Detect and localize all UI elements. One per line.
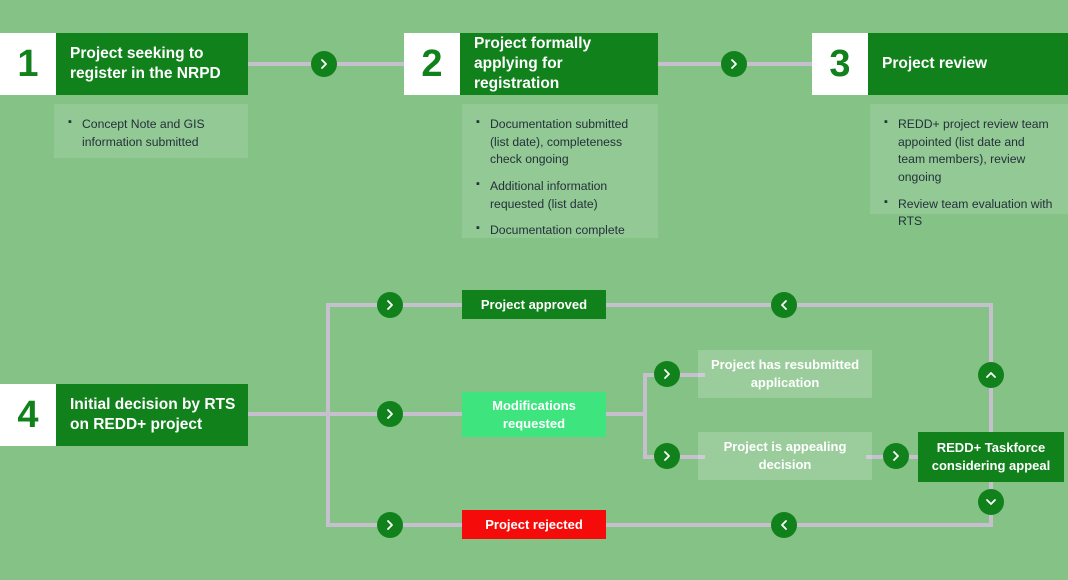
chevron-left-icon-rejected-return	[771, 512, 797, 538]
chevron-up-icon-taskforce-to-approved	[978, 362, 1004, 388]
chevron-right-icon-branch-modifications	[377, 401, 403, 427]
stage-2-detail-item: Documentation submitted (list date), com…	[488, 116, 644, 169]
outcome-box-modifications[interactable]: Modifications requested	[462, 392, 606, 437]
stage-4-number: 4	[0, 384, 56, 446]
chevron-right-icon-appealing	[654, 443, 680, 469]
connector-line-rejected-to-right	[605, 523, 993, 527]
stage-3-number: 3	[812, 33, 868, 95]
stage-3-title: Project review	[868, 33, 999, 95]
flowchart-canvas: 1 Project seeking to register in the NRP…	[0, 0, 1068, 580]
stage-1-detail-item: Concept Note and GIS information submitt…	[80, 116, 234, 151]
stage-1-header: 1 Project seeking to register in the NRP…	[0, 33, 248, 95]
outcome-box-taskforce[interactable]: REDD+ Taskforce considering appeal	[918, 432, 1064, 482]
stage-2-number: 2	[404, 33, 460, 95]
chevron-right-icon-branch-approved	[377, 292, 403, 318]
stage-4-title: Initial decision by RTS on REDD+ project	[56, 384, 248, 446]
chevron-down-icon-taskforce-to-rejected	[978, 489, 1004, 515]
connector-line-modifications-out	[605, 412, 645, 416]
stage-1-details: Concept Note and GIS information submitt…	[54, 104, 248, 158]
outcome-box-appealing[interactable]: Project is appealing decision	[698, 432, 872, 480]
connector-line-stage4-trunk	[248, 412, 328, 416]
stage-2-detail-item: Documentation complete	[488, 222, 644, 240]
stage-3-detail-item: Review team evaluation with RTS	[896, 196, 1054, 231]
stage-2-title: Project formally applying for registrati…	[460, 33, 658, 95]
outcome-box-rejected[interactable]: Project rejected	[462, 510, 606, 539]
connector-line-modifications-split	[643, 373, 647, 456]
stage-2-details: Documentation submitted (list date), com…	[462, 104, 658, 238]
stage-2-detail-item: Additional information requested (list d…	[488, 178, 644, 213]
chevron-right-icon-stage1-stage2	[311, 51, 337, 77]
stage-1-title: Project seeking to register in the NRPD	[56, 33, 248, 95]
stage-4-header: 4 Initial decision by RTS on REDD+ proje…	[0, 384, 248, 446]
stage-3-details: REDD+ project review team appointed (lis…	[870, 104, 1068, 214]
chevron-left-icon-approved-return	[771, 292, 797, 318]
stage-2-header: 2 Project formally applying for registra…	[404, 33, 658, 95]
chevron-right-icon-branch-rejected	[377, 512, 403, 538]
stage-1-number: 1	[0, 33, 56, 95]
outcome-box-resubmitted[interactable]: Project has resubmitted application	[698, 350, 872, 398]
outcome-box-approved[interactable]: Project approved	[462, 290, 606, 319]
chevron-right-icon-to-taskforce	[883, 443, 909, 469]
chevron-right-icon-stage2-stage3	[721, 51, 747, 77]
chevron-right-icon-resubmitted	[654, 361, 680, 387]
stage-3-detail-item: REDD+ project review team appointed (lis…	[896, 116, 1054, 187]
connector-line-approved-to-right	[605, 303, 993, 307]
stage-3-header: 3 Project review	[812, 33, 1068, 95]
